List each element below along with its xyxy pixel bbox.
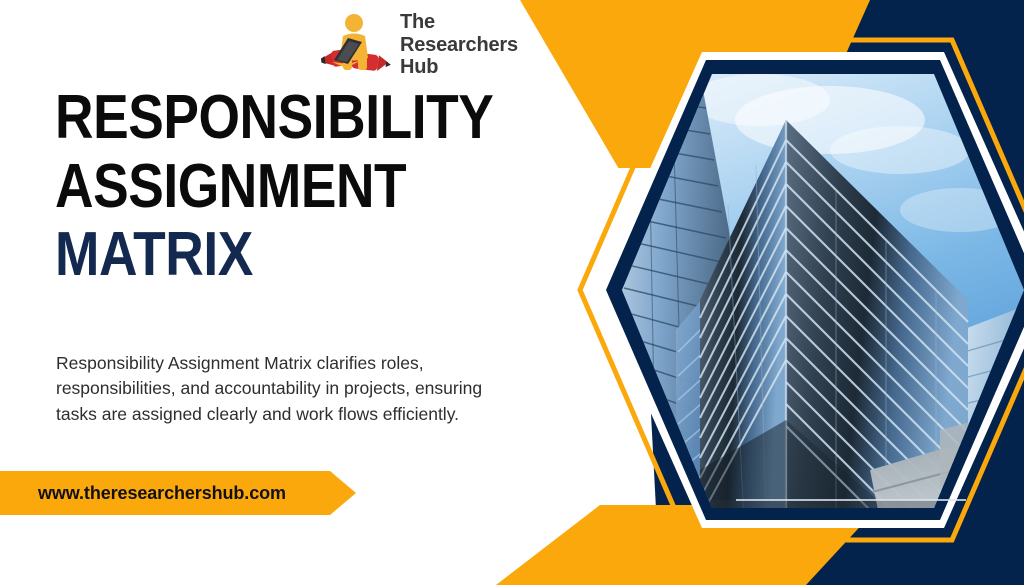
- page-title: Responsibility Assignment Matrix: [55, 88, 525, 294]
- title-line-assignment: Assignment: [55, 157, 459, 217]
- person-with-laptop-and-pencils-icon: [318, 10, 392, 80]
- website-url-banner[interactable]: www.theresearchershub.com: [0, 471, 356, 515]
- website-url-text: www.theresearchershub.com: [38, 471, 286, 515]
- title-line-matrix: Matrix: [55, 225, 459, 285]
- brand-name-line-2: Researchers: [400, 34, 518, 57]
- brand-name-line-1: The: [400, 11, 518, 34]
- description-paragraph: Responsibility Assignment Matrix clarifi…: [56, 351, 518, 428]
- title-line-responsibility: Responsibility: [55, 88, 459, 148]
- poster-canvas: The Researchers Hub Responsibility Assig…: [0, 0, 1024, 585]
- brand-logo[interactable]: The Researchers Hub: [318, 6, 538, 84]
- brand-name-line-3: Hub: [400, 56, 518, 79]
- brand-name: The Researchers Hub: [400, 11, 518, 79]
